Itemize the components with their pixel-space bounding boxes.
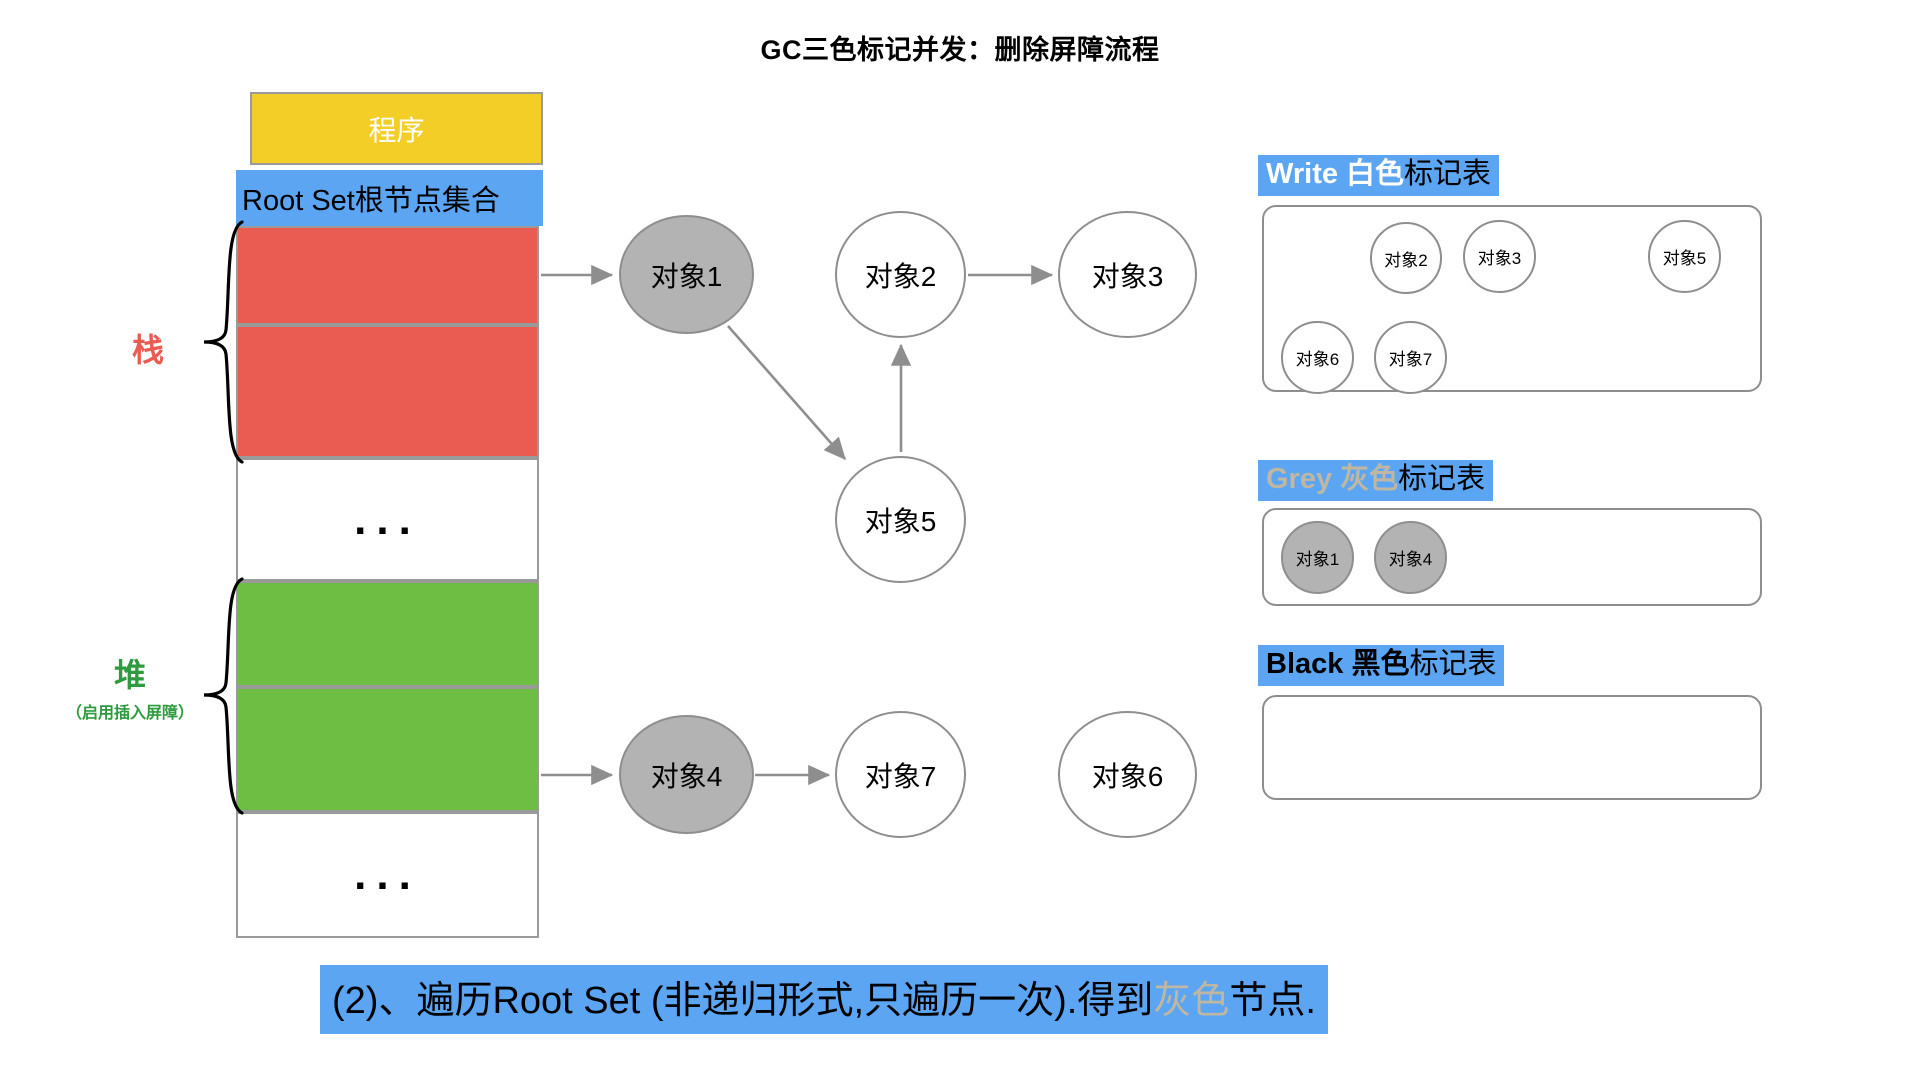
- heap-ellipsis-slot: ...: [236, 812, 539, 938]
- grey-mark-table-header: Grey 灰色标记表: [1258, 460, 1493, 501]
- white-table-chip[interactable]: 对象3: [1463, 220, 1536, 293]
- chip-label: 对象3: [1478, 244, 1521, 269]
- object-node-label: 对象5: [865, 500, 937, 540]
- black-table-title-strong: Black 黑色: [1266, 648, 1409, 680]
- object-node-label: 对象7: [865, 755, 937, 795]
- ellipsis-label: ...: [354, 511, 421, 529]
- heap-label-group: 堆 （启用插入屏障）: [40, 650, 220, 723]
- stack-label: 栈: [100, 325, 196, 371]
- white-table-chip[interactable]: 对象5: [1648, 220, 1721, 293]
- grey-table-title-plain: 标记表: [1398, 463, 1485, 495]
- white-table-chip[interactable]: 对象6: [1281, 321, 1354, 394]
- white-table-chip[interactable]: 对象7: [1374, 321, 1447, 394]
- heap-slot-2: [236, 687, 539, 812]
- heap-slot-1: [236, 581, 539, 687]
- grey-table-title-strong: Grey 灰色: [1266, 463, 1398, 495]
- program-label: 程序: [368, 109, 424, 149]
- object-node-label: 对象2: [865, 255, 937, 295]
- chip-label: 对象2: [1384, 246, 1427, 271]
- chip-label: 对象7: [1389, 345, 1432, 370]
- object-node-3[interactable]: 对象3: [1058, 211, 1197, 338]
- stack-slot-1: [236, 226, 539, 325]
- stack-ellipsis-slot: ...: [236, 458, 539, 581]
- caption-part2: 节点.: [1229, 980, 1316, 1022]
- white-table-title-strong: Write 白色: [1266, 158, 1404, 190]
- object-node-6[interactable]: 对象6: [1058, 711, 1197, 838]
- object-node-1[interactable]: 对象1: [619, 215, 754, 334]
- black-table-title-plain: 标记表: [1409, 648, 1496, 680]
- page-title: GC三色标记并发：删除屏障流程: [0, 28, 1920, 67]
- stack-brace-icon: [196, 218, 250, 466]
- object-node-label: 对象1: [651, 255, 723, 295]
- object-node-2[interactable]: 对象2: [835, 211, 966, 338]
- grey-table-chip[interactable]: 对象1: [1281, 521, 1354, 594]
- heap-sublabel: （启用插入屏障）: [40, 699, 220, 723]
- grey-table-chip[interactable]: 对象4: [1374, 521, 1447, 594]
- white-table-title-plain: 标记表: [1404, 158, 1491, 190]
- black-mark-table-box: [1262, 695, 1762, 800]
- chip-label: 对象1: [1296, 545, 1339, 570]
- caption-part1: (2)、遍历Root Set (非递归形式,只遍历一次).得到: [332, 980, 1153, 1022]
- black-mark-table-header: Black 黑色标记表: [1258, 645, 1504, 686]
- heap-label: 堆: [40, 650, 220, 696]
- white-table-chip[interactable]: 对象2: [1370, 222, 1442, 294]
- object-node-label: 对象3: [1092, 255, 1164, 295]
- caption-highlighted-word: 灰色: [1153, 980, 1229, 1022]
- root-set-label: Root Set根节点集合: [242, 177, 500, 219]
- object-node-label: 对象6: [1092, 755, 1164, 795]
- root-set-bar: Root Set根节点集合: [236, 170, 543, 226]
- step-caption: (2)、遍历Root Set (非递归形式,只遍历一次).得到灰色节点.: [320, 965, 1328, 1034]
- white-mark-table-header: Write 白色标记表: [1258, 155, 1499, 196]
- chip-label: 对象4: [1389, 545, 1432, 570]
- object-node-4[interactable]: 对象4: [619, 715, 754, 834]
- ellipsis-label: ...: [354, 866, 421, 884]
- chip-label: 对象5: [1663, 244, 1706, 269]
- object-node-label: 对象4: [651, 755, 723, 795]
- object-node-7[interactable]: 对象7: [835, 711, 966, 838]
- object-node-5[interactable]: 对象5: [835, 456, 966, 583]
- chip-label: 对象6: [1296, 345, 1339, 370]
- program-block: 程序: [250, 92, 543, 165]
- stack-slot-2: [236, 325, 539, 458]
